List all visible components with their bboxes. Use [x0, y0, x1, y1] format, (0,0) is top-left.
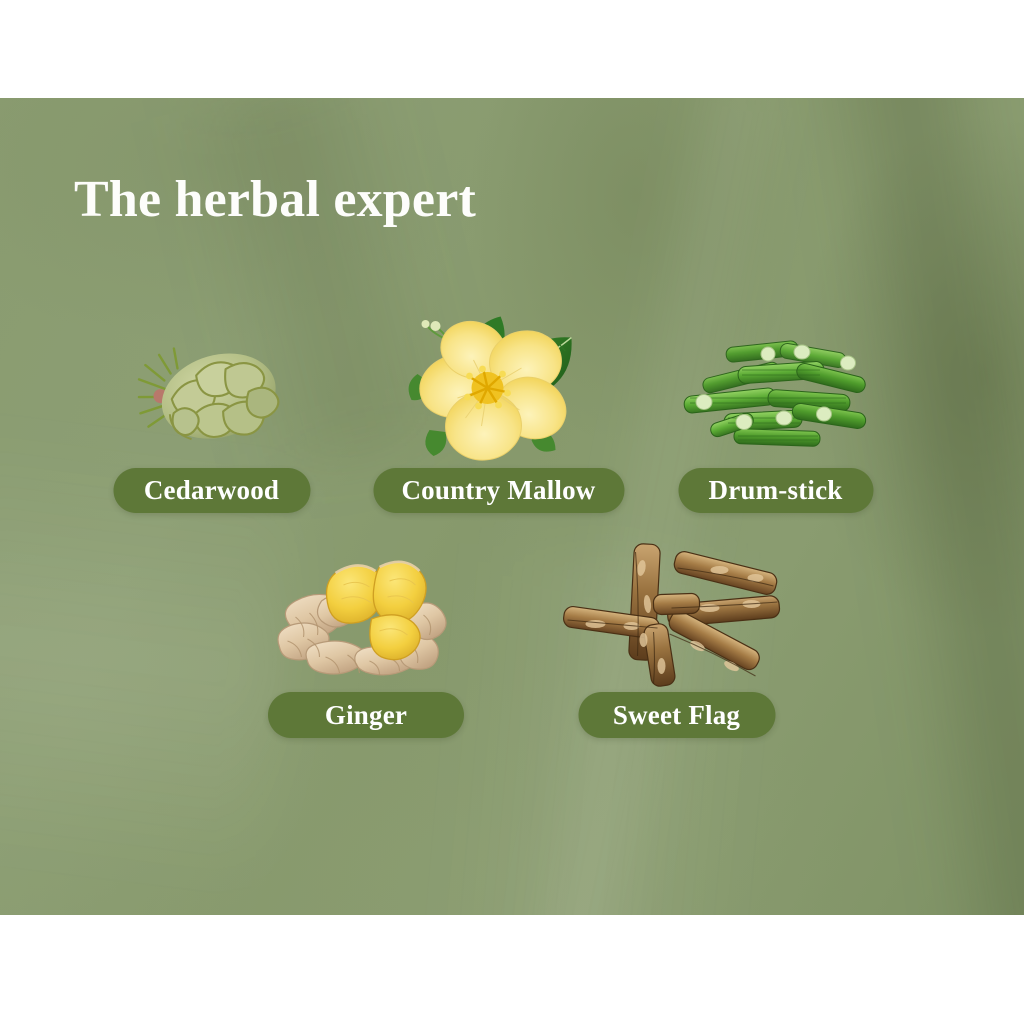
herb-label-cedarwood[interactable]: Cedarwood [113, 468, 310, 513]
herb-label-sweet-flag[interactable]: Sweet Flag [578, 692, 775, 738]
herb-label-drum-stick[interactable]: Drum-stick [678, 468, 873, 513]
sweet-flag-rhizome-icon [569, 538, 784, 688]
page-title: The herbal expert [74, 172, 476, 228]
yellow-flower-icon [391, 300, 606, 465]
ginger-root-icon [274, 545, 459, 685]
cedar-cone-icon [127, 330, 297, 465]
herb-label-ginger[interactable]: Ginger [268, 692, 464, 738]
poster-canvas: The herbal expert [0, 0, 1024, 1024]
herb-label-country-mallow[interactable]: Country Mallow [373, 468, 624, 513]
drumstick-pods-icon [676, 330, 876, 460]
